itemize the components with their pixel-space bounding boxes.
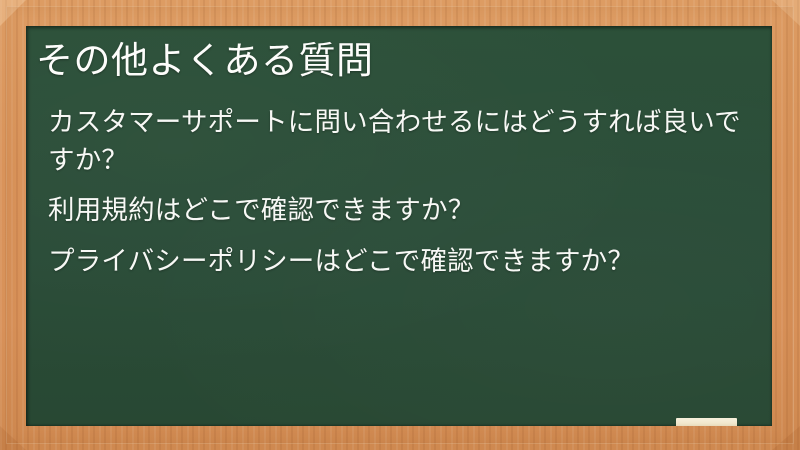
frame-corner-top-left — [0, 0, 26, 26]
list-item: プライバシーポリシーはどこで確認できますか？ — [48, 243, 758, 281]
chalk-stick-icon — [676, 418, 737, 426]
list-item: 利用規約はどこで確認できますか？ — [48, 192, 758, 230]
faq-question-list: カスタマーサポートに問い合わせるにはどうすれば良いですか？ 利用規約はどこで確認… — [48, 104, 758, 281]
chalkboard-surface: その他よくある質問 カスタマーサポートに問い合わせるにはどうすれば良いですか？ … — [26, 26, 772, 426]
frame-corner-bottom-left — [0, 426, 26, 450]
frame-corner-bottom-right — [772, 426, 800, 450]
page-title: その他よくある質問 — [36, 38, 374, 84]
frame-corner-top-right — [772, 0, 800, 26]
list-item: カスタマーサポートに問い合わせるにはどうすれば良いですか？ — [48, 104, 758, 179]
chalkboard-slide: その他よくある質問 カスタマーサポートに問い合わせるにはどうすれば良いですか？ … — [0, 0, 800, 450]
